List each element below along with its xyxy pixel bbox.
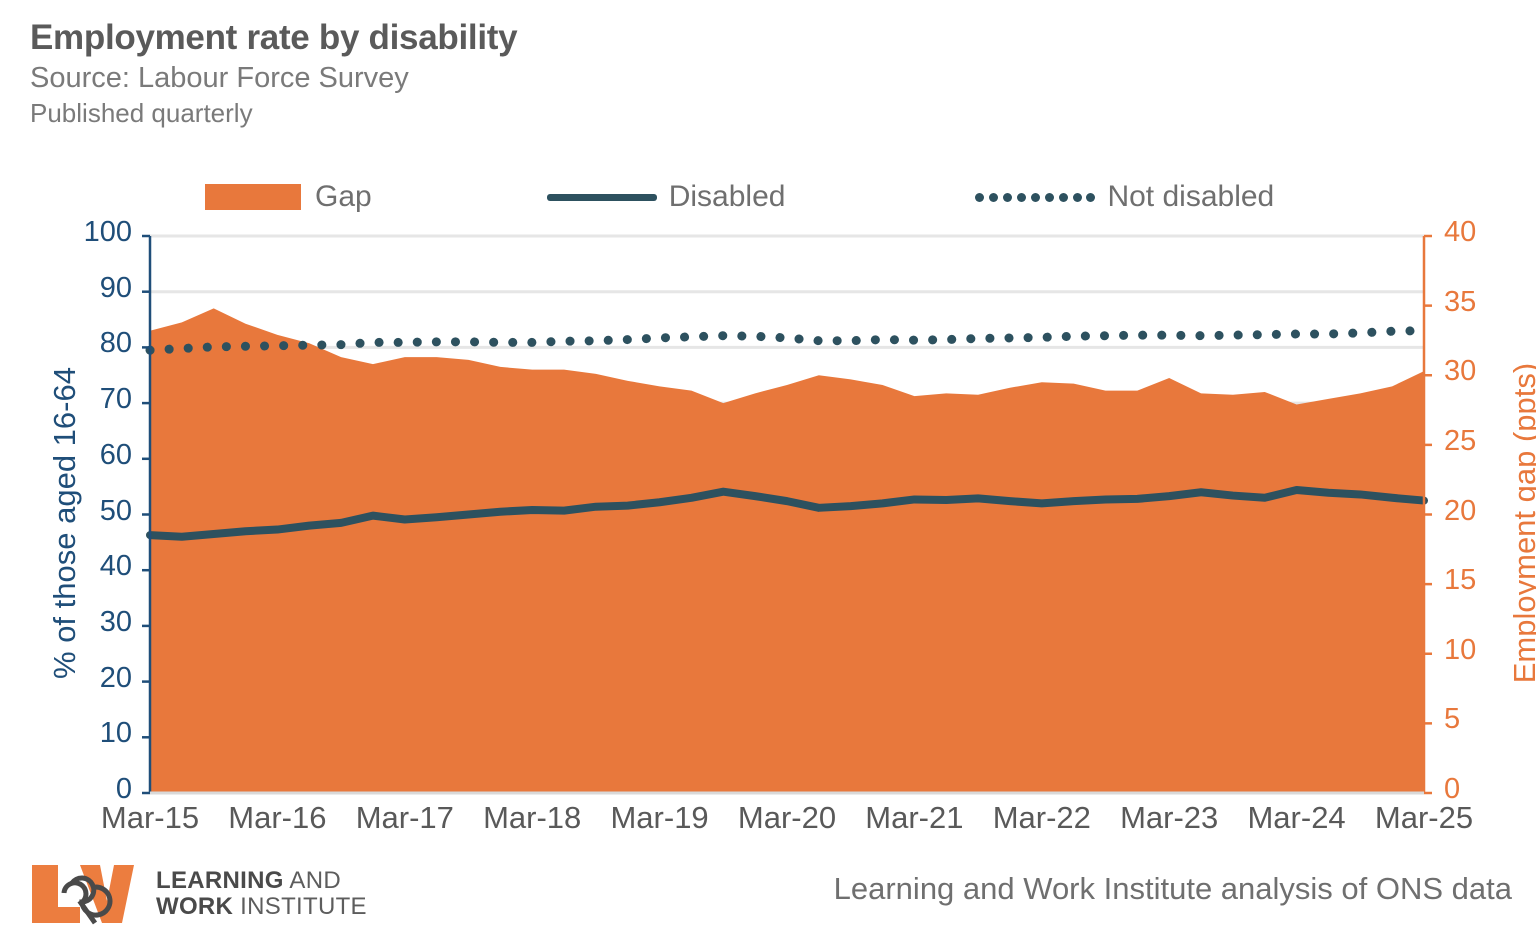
y-right-tick-10: 10 xyxy=(1444,634,1476,667)
y-right-tick-35: 35 xyxy=(1444,286,1476,319)
logo-line-2: WORK INSTITUTE xyxy=(156,894,367,920)
y-right-tick-5: 5 xyxy=(1444,703,1460,736)
y-right-tick-40: 40 xyxy=(1444,216,1476,249)
y-left-tick-20: 20 xyxy=(100,662,132,695)
chart-footer: LEARNING AND WORK INSTITUTE Learning and… xyxy=(0,853,1536,943)
y-left-tick-100: 100 xyxy=(84,216,132,249)
y-left-tick-40: 40 xyxy=(100,550,132,583)
x-tick-mar-25: Mar-25 xyxy=(1334,800,1514,836)
logo-institute: INSTITUTE xyxy=(240,893,367,920)
y-right-tick-25: 25 xyxy=(1444,425,1476,458)
y-axis-left-label: % of those aged 16-64 xyxy=(47,243,83,803)
y-right-tick-30: 30 xyxy=(1444,355,1476,388)
gap-area-series xyxy=(150,308,1424,793)
y-left-tick-10: 10 xyxy=(100,717,132,750)
lw-logo-mark-icon xyxy=(28,863,140,925)
lw-logo: LEARNING AND WORK INSTITUTE xyxy=(28,863,367,925)
logo-line-1: LEARNING AND xyxy=(156,868,367,894)
chart-plot-area: 0102030405060708090100 0510152025303540 … xyxy=(0,0,1536,943)
logo-and: AND xyxy=(289,867,341,894)
y-left-tick-80: 80 xyxy=(100,327,132,360)
logo-work: WORK xyxy=(156,893,233,920)
y-right-tick-15: 15 xyxy=(1444,564,1476,597)
y-left-tick-50: 50 xyxy=(100,495,132,528)
y-left-tick-90: 90 xyxy=(100,272,132,305)
y-right-tick-20: 20 xyxy=(1444,495,1476,528)
chart-credit: Learning and Work Institute analysis of … xyxy=(834,871,1512,907)
lw-logo-text: LEARNING AND WORK INSTITUTE xyxy=(156,868,367,920)
logo-learning: LEARNING xyxy=(156,867,284,894)
y-left-tick-70: 70 xyxy=(100,383,132,416)
y-left-tick-60: 60 xyxy=(100,439,132,472)
y-axis-right-label: Employment gap (ppts) xyxy=(1507,243,1536,803)
y-left-tick-30: 30 xyxy=(100,606,132,639)
